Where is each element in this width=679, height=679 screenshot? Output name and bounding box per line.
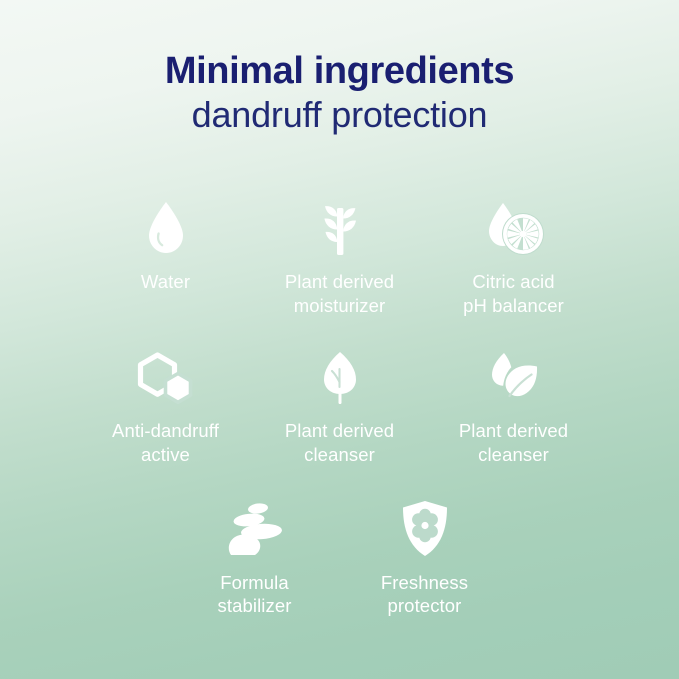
ingredient-item-water: Water [79, 196, 253, 294]
ingredient-label: Freshness protector [381, 571, 468, 618]
ingredient-label: Plant derived cleanser [285, 419, 394, 466]
ingredient-row: Water Plant derived moisturizer [0, 196, 679, 317]
ingredient-label: Formula stabilizer [218, 571, 292, 618]
title-line-primary: Minimal ingredients [0, 52, 679, 91]
title-line-secondary: dandruff protection [0, 97, 679, 134]
stacked-stones-icon [221, 497, 289, 559]
ingredient-item-plant-derived-cleanser-2: Plant derived cleanser [427, 345, 601, 466]
ingredient-label: Water [141, 270, 190, 294]
ingredient-row: Formula stabilizer [0, 497, 679, 618]
ingredient-label: Citric acid pH balancer [463, 270, 564, 317]
ingredient-item-plant-derived-moisturizer: Plant derived moisturizer [253, 196, 427, 317]
ingredient-label: Plant derived moisturizer [285, 270, 394, 317]
single-leaf-icon [317, 345, 363, 407]
ingredient-item-anti-dandruff-active: Anti-dandruff active [79, 345, 253, 466]
citrus-slice-droplet-icon [481, 196, 547, 258]
ingredient-item-plant-derived-cleanser-1: Plant derived cleanser [253, 345, 427, 466]
ingredient-item-citric-acid: Citric acid pH balancer [427, 196, 601, 317]
page-title: Minimal ingredients dandruff protection [0, 52, 679, 133]
ingredient-label: Plant derived cleanser [459, 419, 568, 466]
water-droplet-icon [143, 196, 189, 258]
ingredient-grid: Water Plant derived moisturizer [0, 196, 679, 618]
ingredient-label: Anti-dandruff active [112, 419, 219, 466]
ingredient-row: Anti-dandruff active Plant derived clean… [0, 345, 679, 466]
shield-flower-icon [398, 497, 452, 559]
ingredient-item-freshness-protector: Freshness protector [340, 497, 510, 618]
hexagon-molecule-icon [135, 345, 197, 407]
ingredient-item-formula-stabilizer: Formula stabilizer [170, 497, 340, 618]
ingredients-infographic: Minimal ingredients dandruff protection … [0, 0, 679, 679]
double-leaf-icon [481, 345, 547, 407]
plant-sprout-icon [314, 196, 366, 258]
